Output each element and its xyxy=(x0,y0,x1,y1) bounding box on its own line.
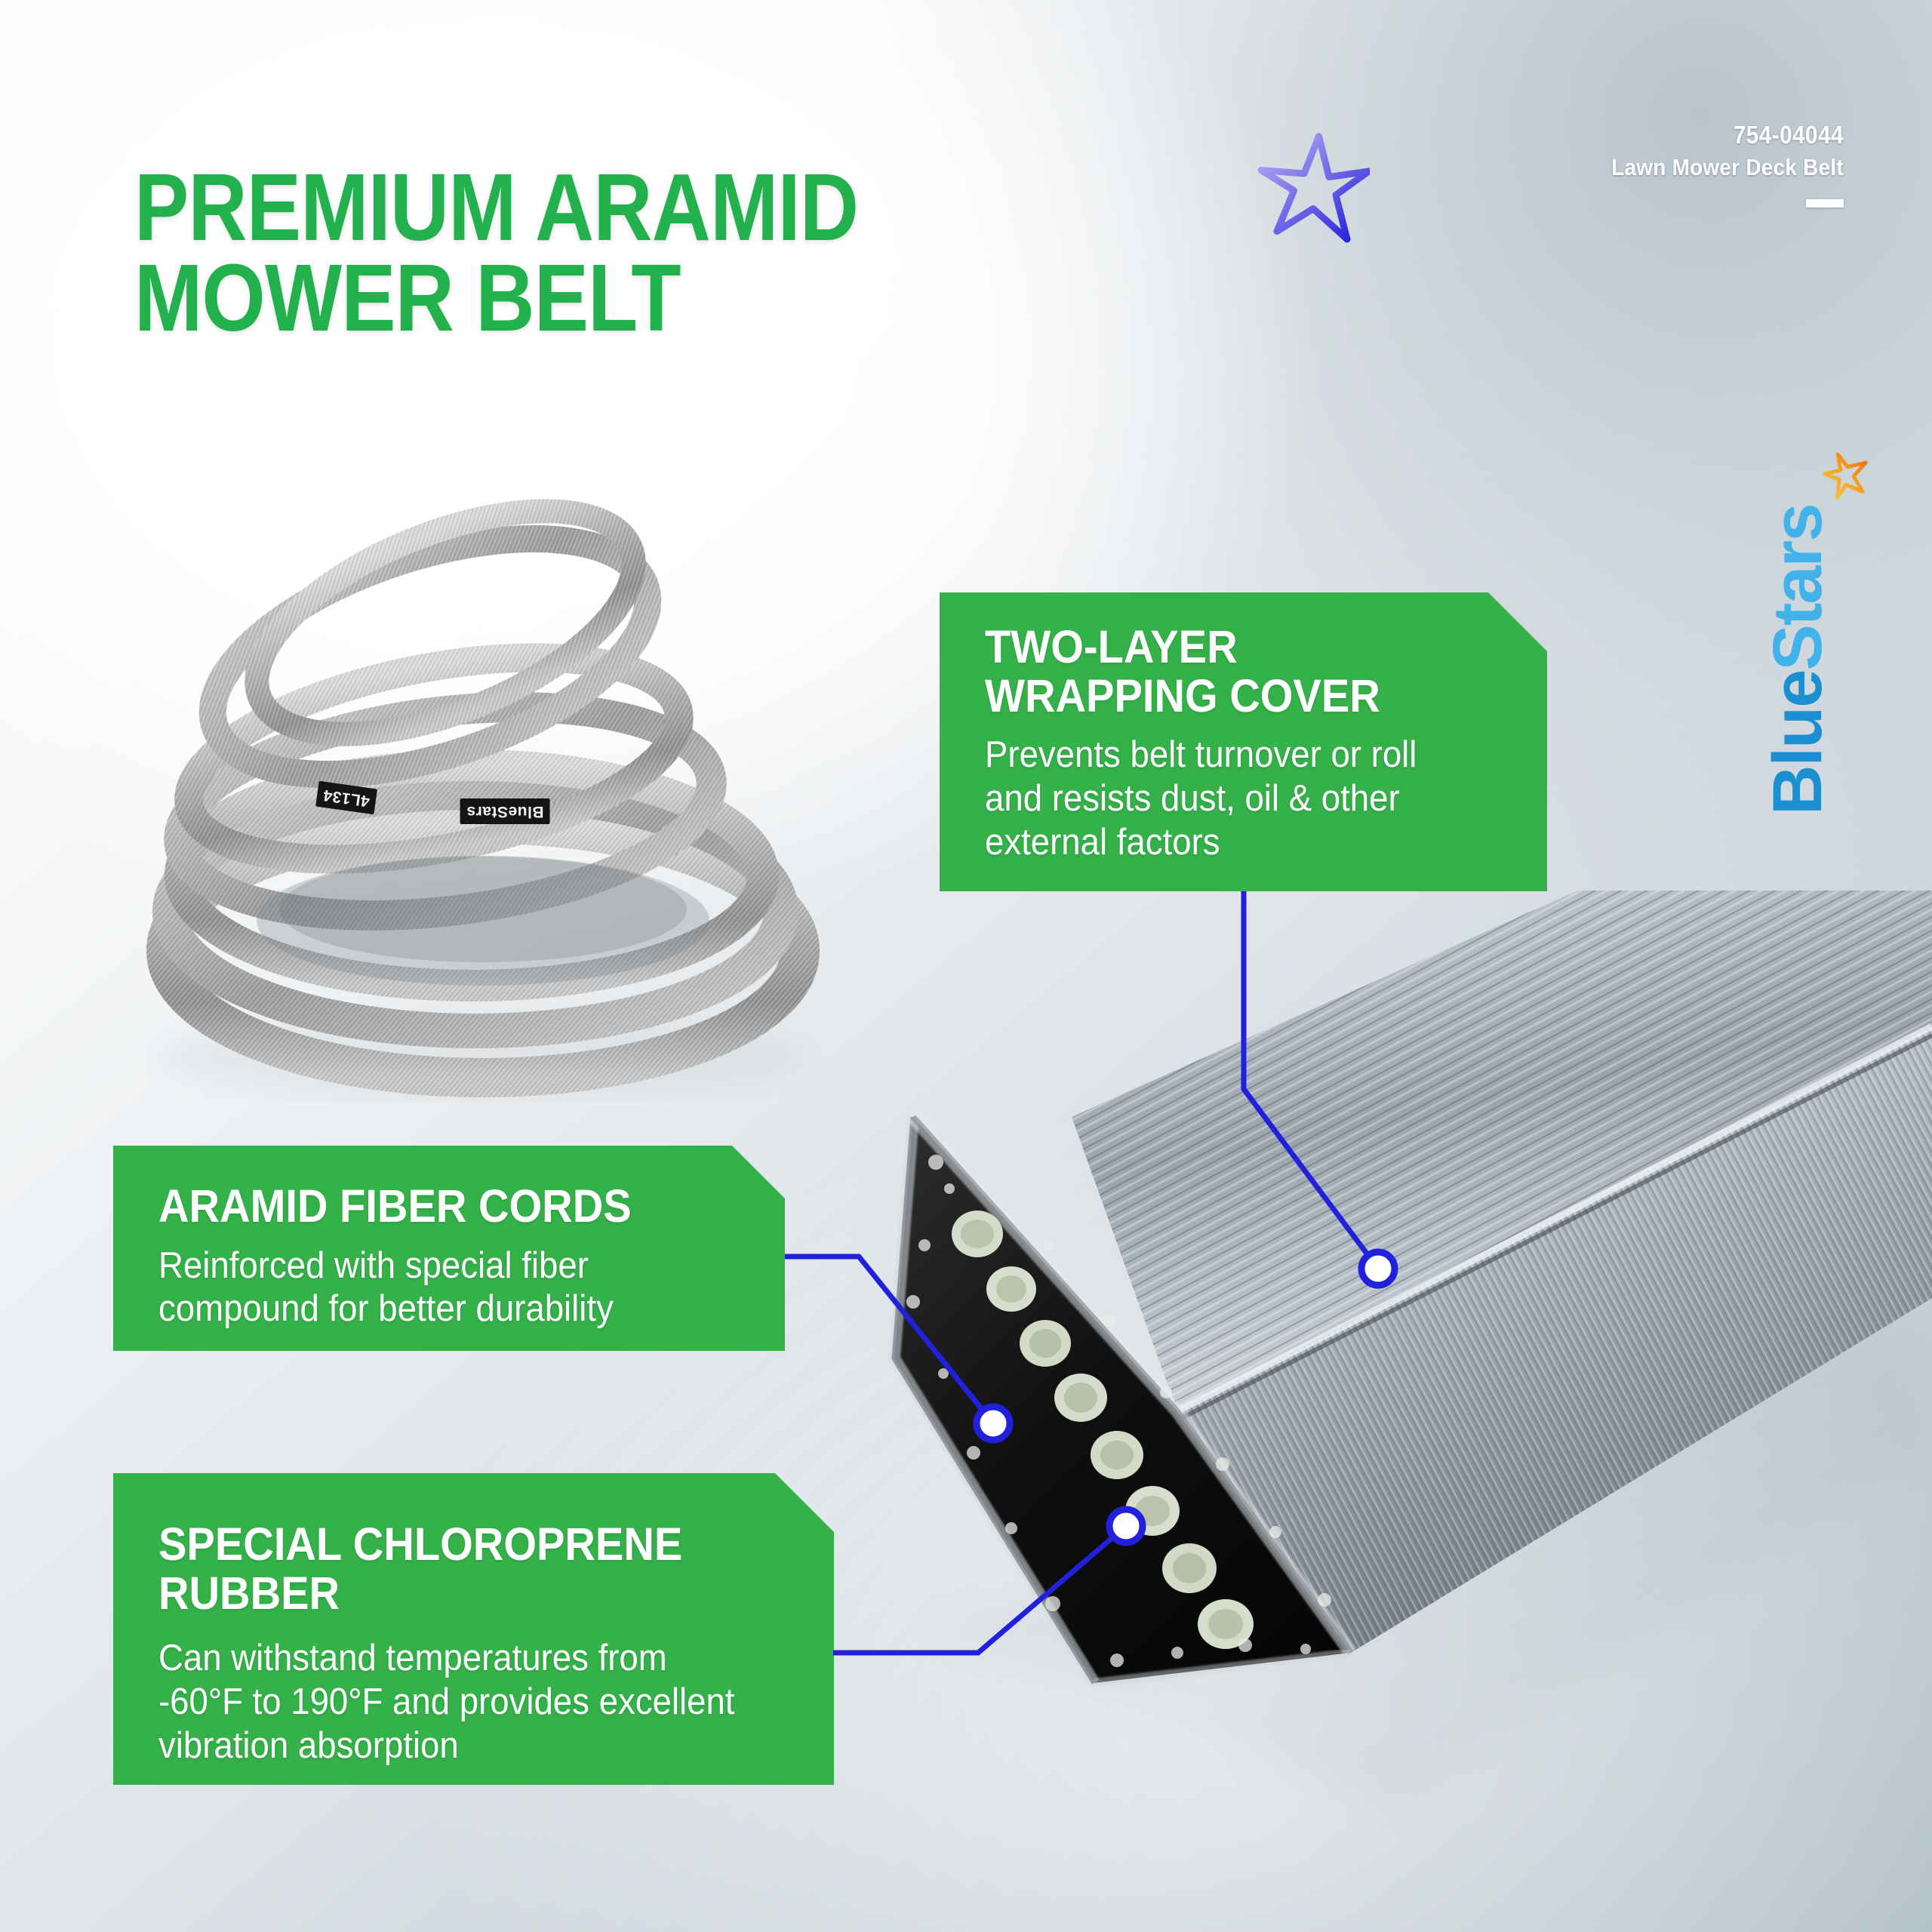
callout-body: Prevents belt turnover or roll and resis… xyxy=(985,734,1475,864)
callout-aramid-fiber-cords[interactable]: ARAMID FIBER CORDS Reinforced with speci… xyxy=(113,1146,785,1351)
spark-star-icon xyxy=(1806,453,1853,500)
star-icon xyxy=(1257,130,1370,247)
title-line-1: PREMIUM ARAMID xyxy=(134,162,858,253)
belt-cross-section-illustration xyxy=(823,891,1932,1864)
belt-coil-photo: 4L134 BlueStars xyxy=(91,468,860,1102)
callout-body: Can withstand temperatures from -60°F to… xyxy=(158,1637,755,1767)
callout-special-chloroprene-rubber[interactable]: SPECIAL CHLOROPRENERUBBER Can withstand … xyxy=(113,1473,834,1785)
brand-logo: Blue Stars xyxy=(1758,0,1838,392)
callout-title: TWO-LAYERWRAPPING COVER xyxy=(985,623,1470,720)
callout-body: Reinforced with special fiber compound f… xyxy=(158,1244,709,1332)
callout-title: SPECIAL CHLOROPRENERUBBER xyxy=(158,1520,748,1617)
brand-logo-blue: Blue xyxy=(1758,671,1838,815)
belt-coil-illustration xyxy=(91,468,860,1102)
title-line-2: MOWER BELT xyxy=(134,253,858,343)
callout-two-layer-wrapping-cover[interactable]: TWO-LAYERWRAPPING COVER Prevents belt tu… xyxy=(940,592,1547,891)
infographic-canvas: 4L134 BlueStars xyxy=(0,0,1932,1932)
callout-title: ARAMID FIBER CORDS xyxy=(158,1182,703,1231)
page-title: PREMIUM ARAMID MOWER BELT xyxy=(134,162,976,343)
belt-cross-section-photo xyxy=(823,891,1932,1864)
brand-logo-stars: Stars xyxy=(1758,504,1838,670)
coil-label-brand: BlueStars xyxy=(460,798,550,824)
